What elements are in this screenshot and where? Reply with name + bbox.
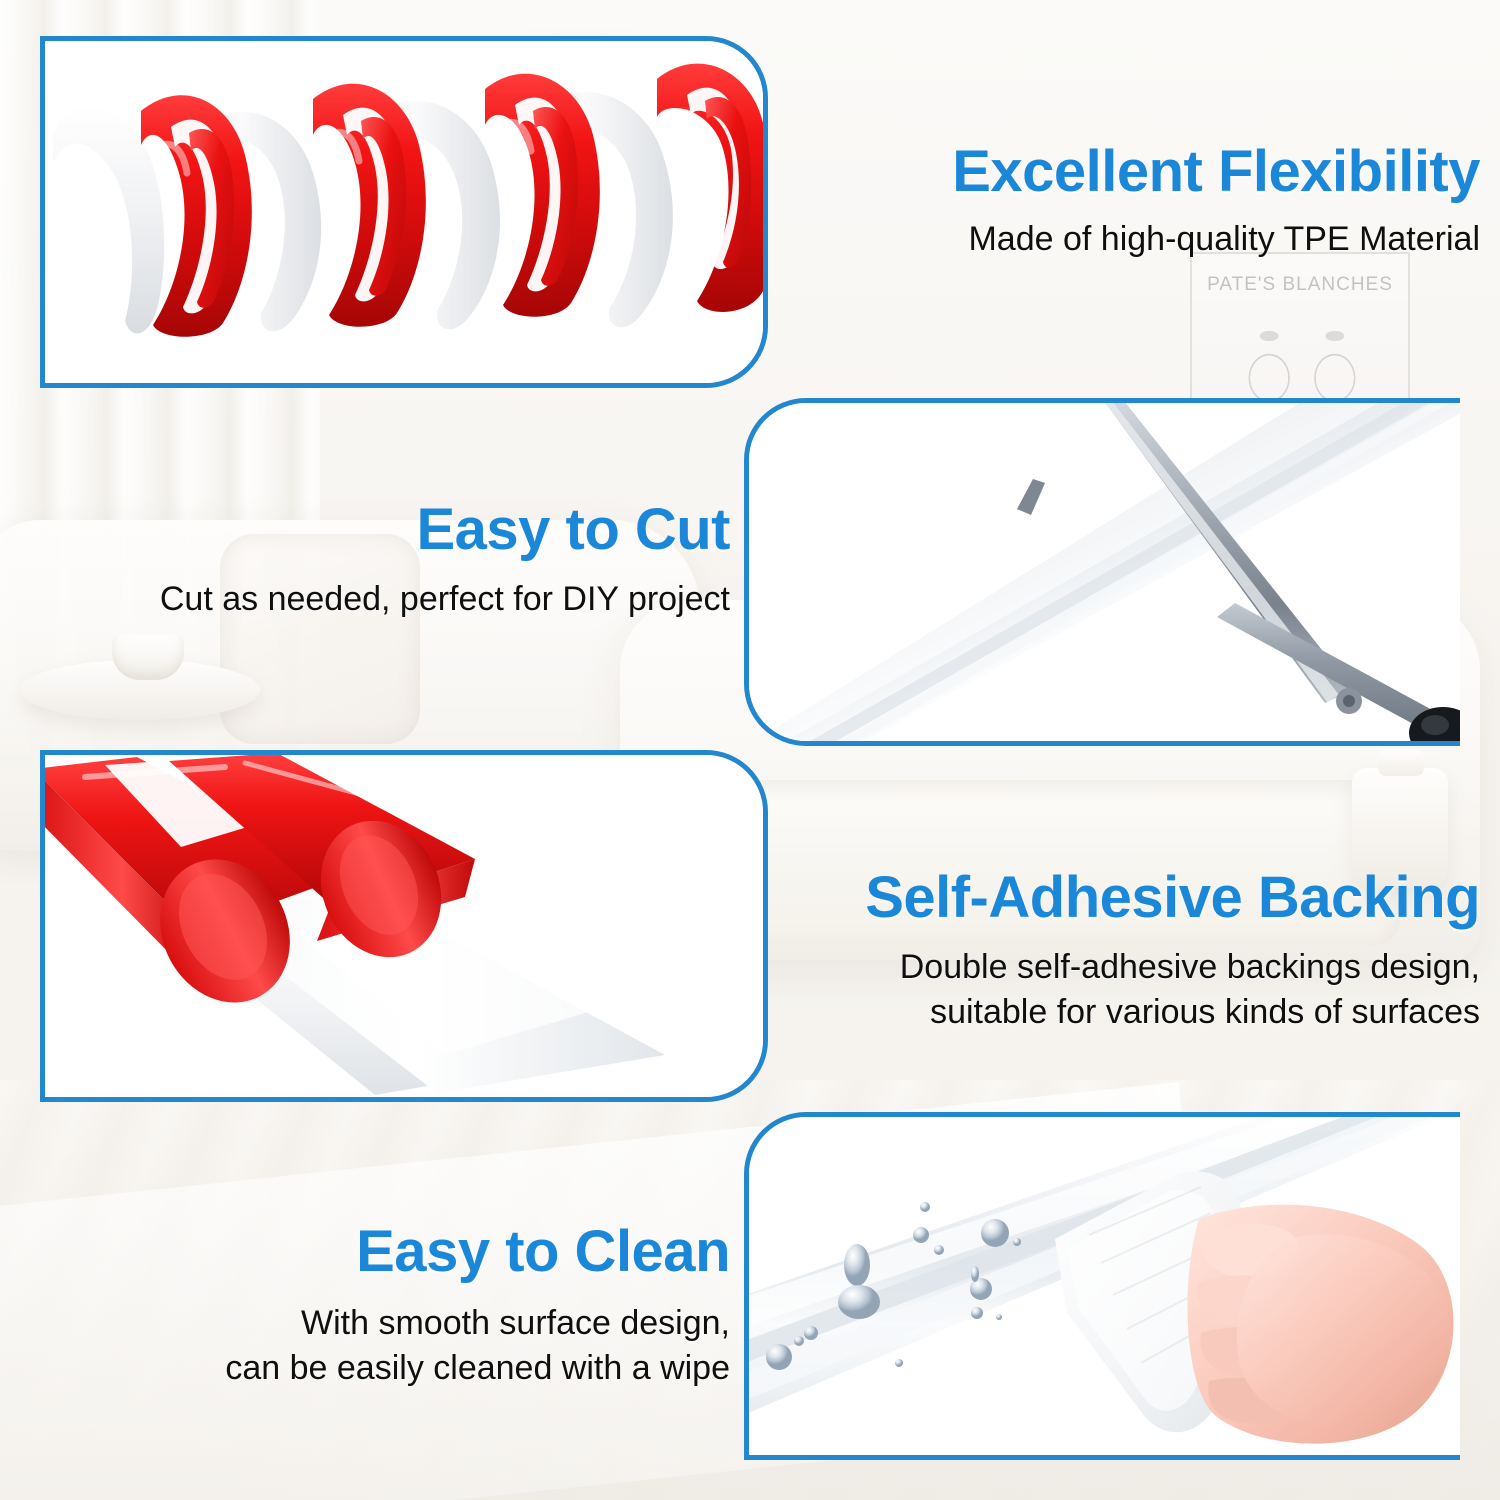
cleaning-illustration bbox=[749, 1117, 1460, 1460]
feature-text-flexibility: Excellent Flexibility Made of high-quali… bbox=[780, 142, 1480, 261]
feature-subtext-clean-line1: With smooth surface design, bbox=[40, 1302, 730, 1346]
background-coffee-cup bbox=[112, 634, 184, 680]
feature-image-panel-clean bbox=[744, 1112, 1460, 1460]
feature-subtext-cut: Cut as needed, perfect for DIY project bbox=[40, 578, 730, 622]
red-white-spiral-tpe-strip-photo bbox=[45, 41, 763, 383]
feature-text-cut: Easy to Cut Cut as needed, perfect for D… bbox=[40, 500, 730, 621]
scissors-cutting-clear-strip-photo bbox=[749, 403, 1460, 741]
feature-text-clean: Easy to Clean With smooth surface design… bbox=[40, 1222, 730, 1391]
spiral-strip-illustration bbox=[45, 41, 763, 383]
feature-subtext-flexibility: Made of high-quality TPE Material bbox=[780, 218, 1480, 262]
feature-subtext-clean-line2: can be easily cleaned with a wipe bbox=[40, 1347, 730, 1391]
feature-image-panel-adhesive bbox=[40, 750, 768, 1102]
feature-image-panel-cut bbox=[744, 398, 1460, 746]
feature-heading-flexibility: Excellent Flexibility bbox=[780, 142, 1480, 202]
adhesive-strip-illustration bbox=[45, 755, 763, 1097]
hand-wiping-strip-with-water-drops-photo bbox=[749, 1117, 1460, 1455]
feature-text-adhesive: Self-Adhesive Backing Double self-adhesi… bbox=[790, 868, 1480, 1035]
feature-subtext-adhesive-line2: suitable for various kinds of surfaces bbox=[790, 991, 1480, 1035]
feature-image-panel-flexibility bbox=[40, 36, 768, 388]
red-strip-with-adhesive-backing-photo bbox=[45, 755, 763, 1097]
feature-heading-cut: Easy to Cut bbox=[40, 500, 730, 560]
poster-title-text: PATE'S BLANCHES bbox=[1206, 274, 1394, 296]
feature-heading-clean: Easy to Clean bbox=[40, 1222, 730, 1282]
feature-subtext-adhesive-line1: Double self-adhesive backings design, bbox=[790, 946, 1480, 990]
feature-heading-adhesive: Self-Adhesive Backing bbox=[790, 868, 1480, 928]
scissors-illustration bbox=[749, 403, 1460, 746]
